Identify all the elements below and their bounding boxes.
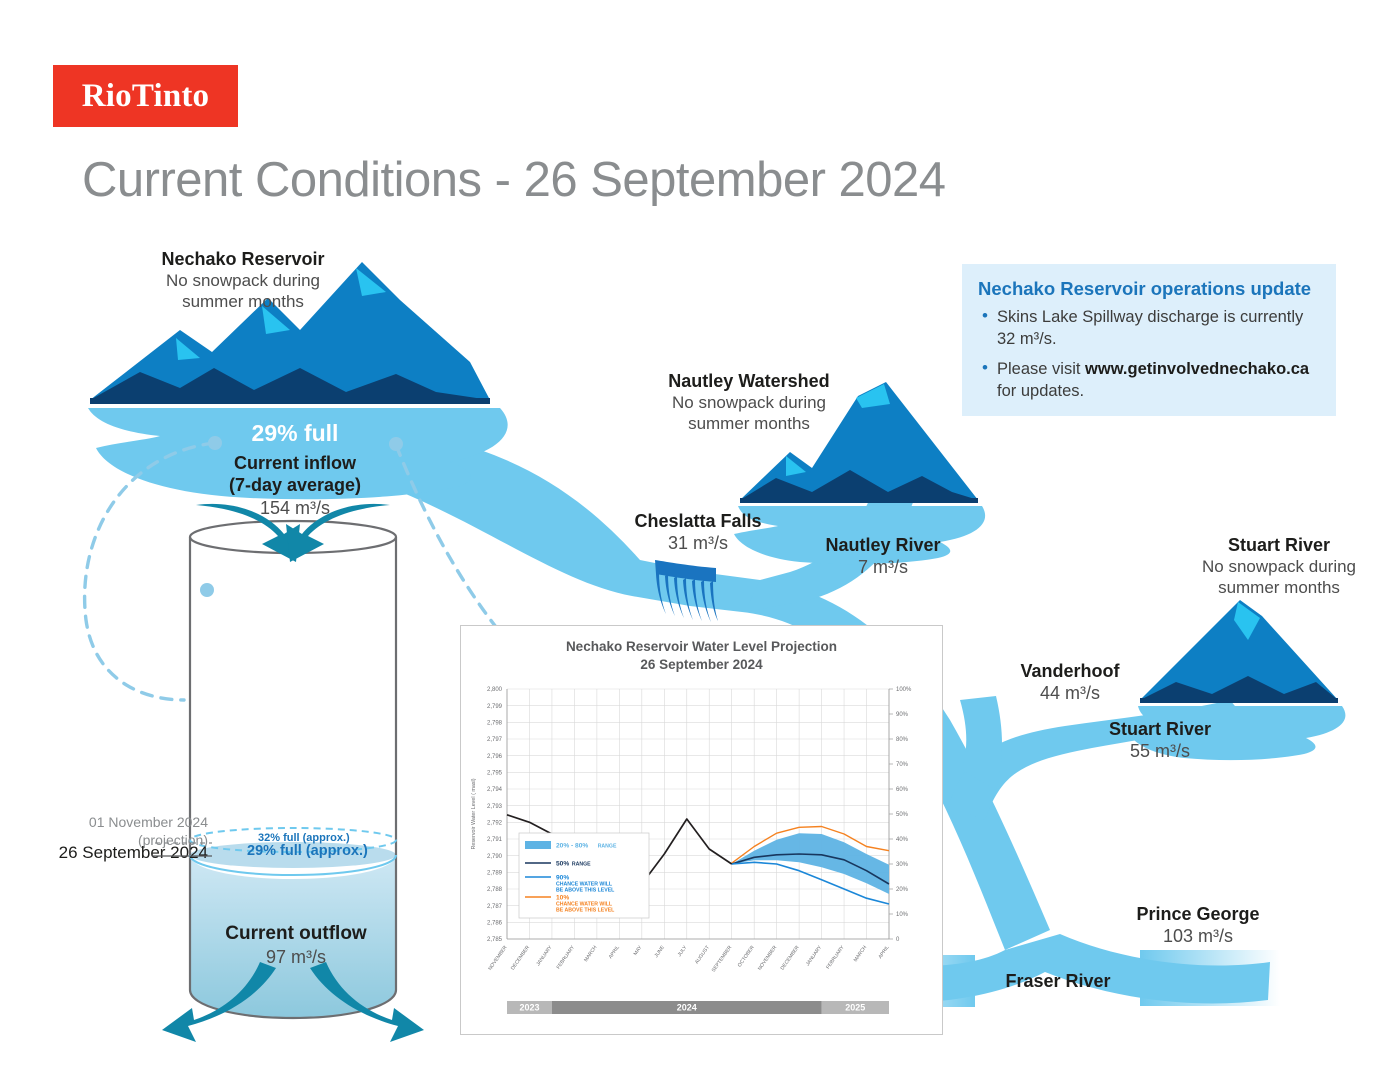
svg-text:10%: 10% bbox=[896, 912, 909, 918]
svg-text:40%: 40% bbox=[896, 837, 909, 843]
fraser-fade-right bbox=[1140, 950, 1280, 1006]
svg-text:SEPTEMBER: SEPTEMBER bbox=[711, 944, 734, 973]
svg-text:NOVEMBER: NOVEMBER bbox=[757, 944, 779, 971]
svg-text:2,791: 2,791 bbox=[487, 837, 503, 843]
svg-text:2,796: 2,796 bbox=[487, 754, 503, 760]
svg-text:RANGE: RANGE bbox=[572, 861, 591, 867]
label-nautley-river: Nautley River 7 m³/s bbox=[800, 534, 966, 579]
svg-text:BE ABOVE THIS LEVEL: BE ABOVE THIS LEVEL bbox=[556, 907, 615, 913]
water-level-projection-chart: Nechako Reservoir Water Level Projection… bbox=[460, 625, 943, 1035]
svg-text:2,794: 2,794 bbox=[487, 787, 503, 793]
svg-text:80%: 80% bbox=[896, 737, 909, 743]
svg-text:2,800: 2,800 bbox=[487, 687, 503, 693]
svg-text:2,790: 2,790 bbox=[487, 854, 503, 860]
svg-text:APRIL: APRIL bbox=[608, 945, 621, 960]
svg-text:90%: 90% bbox=[896, 712, 909, 718]
svg-text:50%: 50% bbox=[896, 812, 909, 818]
svg-text:2,788: 2,788 bbox=[487, 887, 503, 893]
svg-text:2,793: 2,793 bbox=[487, 804, 503, 810]
svg-text:MARCH: MARCH bbox=[583, 944, 599, 963]
svg-text:APRIL: APRIL bbox=[877, 945, 890, 960]
svg-text:60%: 60% bbox=[896, 787, 909, 793]
svg-text:90%: 90% bbox=[556, 874, 569, 881]
svg-text:10%: 10% bbox=[556, 894, 569, 901]
svg-text:2,787: 2,787 bbox=[487, 904, 503, 910]
chart-title: Nechako Reservoir Water Level Projection… bbox=[461, 638, 942, 674]
ops-update-heading: Nechako Reservoir operations update bbox=[978, 278, 1320, 300]
svg-text:JANUARY: JANUARY bbox=[805, 944, 824, 967]
svg-text:MARCH: MARCH bbox=[853, 944, 869, 963]
svg-text:20% - 80%: 20% - 80% bbox=[556, 842, 588, 849]
chart-plot: 2,7852,7862,7872,7882,7892,7902,7912,792… bbox=[461, 681, 944, 1031]
svg-text:2023: 2023 bbox=[519, 1003, 539, 1013]
svg-text:2025: 2025 bbox=[845, 1003, 865, 1013]
label-current-inflow: Current inflow (7-day average) 154 m³/s bbox=[205, 452, 385, 519]
svg-text:Reservoir Water Level ( masl): Reservoir Water Level ( masl) bbox=[471, 778, 477, 849]
label-current-outflow: Current outflow 97 m³/s bbox=[203, 922, 389, 968]
ops-update-bullet-2: Please visit www.getinvolvednechako.ca f… bbox=[978, 358, 1320, 403]
svg-text:0: 0 bbox=[896, 937, 900, 943]
svg-text:2,798: 2,798 bbox=[487, 721, 503, 727]
svg-text:30%: 30% bbox=[896, 862, 909, 868]
svg-text:2,797: 2,797 bbox=[487, 737, 503, 743]
svg-text:BE ABOVE THIS LEVEL: BE ABOVE THIS LEVEL bbox=[556, 887, 615, 893]
leader-dot-tank bbox=[200, 583, 214, 597]
svg-text:2024: 2024 bbox=[677, 1003, 697, 1013]
label-nautley-watershed: Nautley Watershed No snowpack during sum… bbox=[606, 370, 892, 434]
svg-text:2,792: 2,792 bbox=[487, 821, 503, 827]
svg-text:RANGE: RANGE bbox=[598, 843, 617, 849]
label-nechako-reservoir: Nechako Reservoir No snowpack during sum… bbox=[100, 248, 386, 312]
svg-text:NOVEMBER: NOVEMBER bbox=[487, 944, 509, 971]
svg-text:FEBRUARY: FEBRUARY bbox=[556, 944, 577, 970]
svg-text:AUGUST: AUGUST bbox=[694, 945, 711, 966]
label-stuart-watershed: Stuart River No snowpack during summer m… bbox=[1166, 534, 1392, 598]
svg-text:2,795: 2,795 bbox=[487, 771, 503, 777]
label-stuart-river: Stuart River 55 m³/s bbox=[1072, 718, 1248, 763]
svg-text:FEBRUARY: FEBRUARY bbox=[825, 944, 846, 970]
svg-text:20%: 20% bbox=[896, 887, 909, 893]
label-fraser-river: Fraser River bbox=[958, 970, 1158, 992]
svg-text:JULY: JULY bbox=[677, 944, 689, 958]
tank-callout-lines bbox=[150, 810, 280, 880]
svg-text:2,785: 2,785 bbox=[487, 937, 503, 943]
svg-text:70%: 70% bbox=[896, 762, 909, 768]
nechako-website-link[interactable]: www.getinvolvednechako.ca bbox=[1085, 360, 1309, 378]
svg-text:DECEMBER: DECEMBER bbox=[780, 944, 801, 971]
reservoir-percent-full: 29% full bbox=[205, 420, 385, 447]
svg-text:2,789: 2,789 bbox=[487, 871, 503, 877]
leader-dot-chart-start bbox=[389, 437, 403, 451]
svg-text:2,799: 2,799 bbox=[487, 704, 503, 710]
svg-text:DECEMBER: DECEMBER bbox=[510, 944, 531, 971]
svg-text:JANUARY: JANUARY bbox=[535, 944, 554, 967]
label-cheslatta-falls: Cheslatta Falls 31 m³/s bbox=[610, 510, 786, 555]
label-vanderhoof: Vanderhoof 44 m³/s bbox=[990, 660, 1150, 705]
ops-update-list: Skins Lake Spillway discharge is current… bbox=[978, 306, 1320, 402]
label-prince-george: Prince George 103 m³/s bbox=[1100, 903, 1296, 948]
operations-update-box: Nechako Reservoir operations update Skin… bbox=[962, 264, 1336, 416]
svg-text:2,786: 2,786 bbox=[487, 921, 503, 927]
svg-text:MAY: MAY bbox=[633, 944, 644, 957]
svg-text:JUNE: JUNE bbox=[654, 944, 667, 959]
svg-text:50%: 50% bbox=[556, 860, 569, 867]
svg-text:100%: 100% bbox=[896, 687, 912, 693]
svg-text:OCTOBER: OCTOBER bbox=[737, 944, 756, 968]
ops-update-bullet-1: Skins Lake Spillway discharge is current… bbox=[978, 306, 1320, 351]
